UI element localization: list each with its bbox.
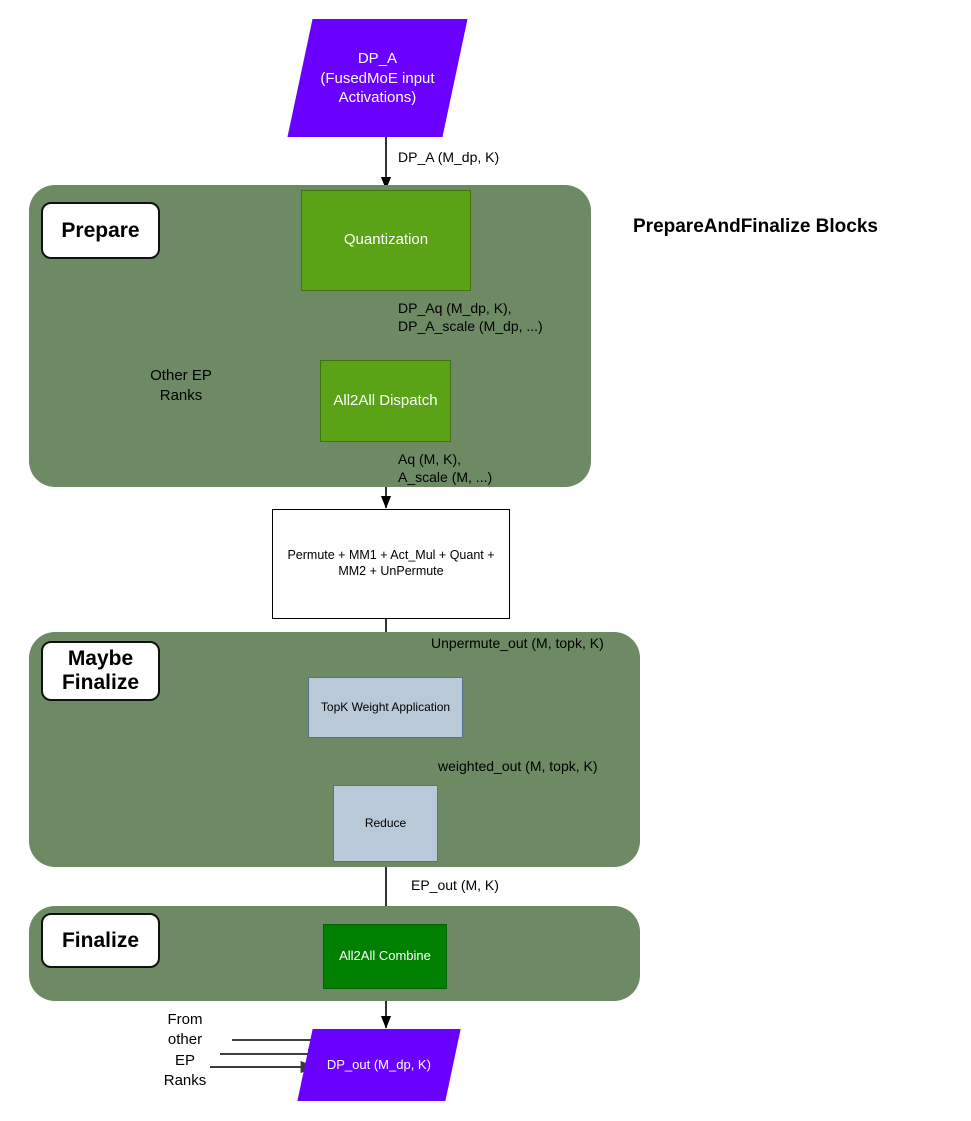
side-label-from-other-ep-ranks: From other EP Ranks	[152, 1010, 218, 1091]
node-dp-out-label: DP_out (M_dp, K)	[305, 1057, 453, 1074]
edge-label-weighted-out: weighted_out (M, topk, K)	[438, 757, 598, 775]
group-label-finalize-text: Finalize	[62, 929, 139, 953]
node-reduce[interactable]: Reduce	[333, 785, 438, 862]
node-dp-a-input-label: DP_A (FusedMoE input Activations)	[300, 49, 455, 108]
edge-label-ep-out: EP_out (M, K)	[411, 876, 499, 894]
group-label-maybe-finalize: Maybe Finalize	[41, 641, 160, 701]
edge-label-dp-a: DP_A (M_dp, K)	[398, 148, 499, 166]
group-label-finalize: Finalize	[41, 913, 160, 968]
edge-label-dp-aq: DP_Aq (M_dp, K), DP_A_scale (M_dp, ...)	[398, 299, 543, 335]
node-all2all-dispatch[interactable]: All2All Dispatch	[320, 360, 451, 442]
page-title: PrepareAndFinalize Blocks	[633, 216, 878, 238]
node-expert-compute[interactable]: Permute + MM1 + Act_Mul + Quant + MM2 + …	[272, 509, 510, 619]
node-all2all-dispatch-label: All2All Dispatch	[333, 392, 437, 411]
group-label-maybe-finalize-text: Maybe Finalize	[62, 647, 139, 694]
group-label-prepare: Prepare	[41, 202, 160, 259]
group-label-prepare-text: Prepare	[61, 219, 139, 243]
node-expert-compute-label: Permute + MM1 + Act_Mul + Quant + MM2 + …	[287, 548, 494, 579]
node-reduce-label: Reduce	[365, 816, 406, 831]
node-dp-out[interactable]: DP_out (M_dp, K)	[297, 1029, 460, 1101]
side-label-other-ep-ranks: Other EP Ranks	[137, 366, 225, 407]
node-all2all-combine-label: All2All Combine	[339, 948, 431, 964]
node-topk-weight-application-label: TopK Weight Application	[321, 700, 450, 715]
edge-label-unpermute-out: Unpermute_out (M, topk, K)	[431, 634, 604, 652]
node-dp-a-input[interactable]: DP_A (FusedMoE input Activations)	[287, 19, 467, 137]
node-quantization-label: Quantization	[344, 231, 428, 250]
edge-label-aq: Aq (M, K), A_scale (M, ...)	[398, 450, 492, 486]
node-all2all-combine[interactable]: All2All Combine	[323, 924, 447, 989]
node-quantization[interactable]: Quantization	[301, 190, 471, 291]
node-topk-weight-application[interactable]: TopK Weight Application	[308, 677, 463, 738]
diagram-canvas: Prepare Maybe Finalize Finalize PrepareA…	[0, 0, 971, 1121]
